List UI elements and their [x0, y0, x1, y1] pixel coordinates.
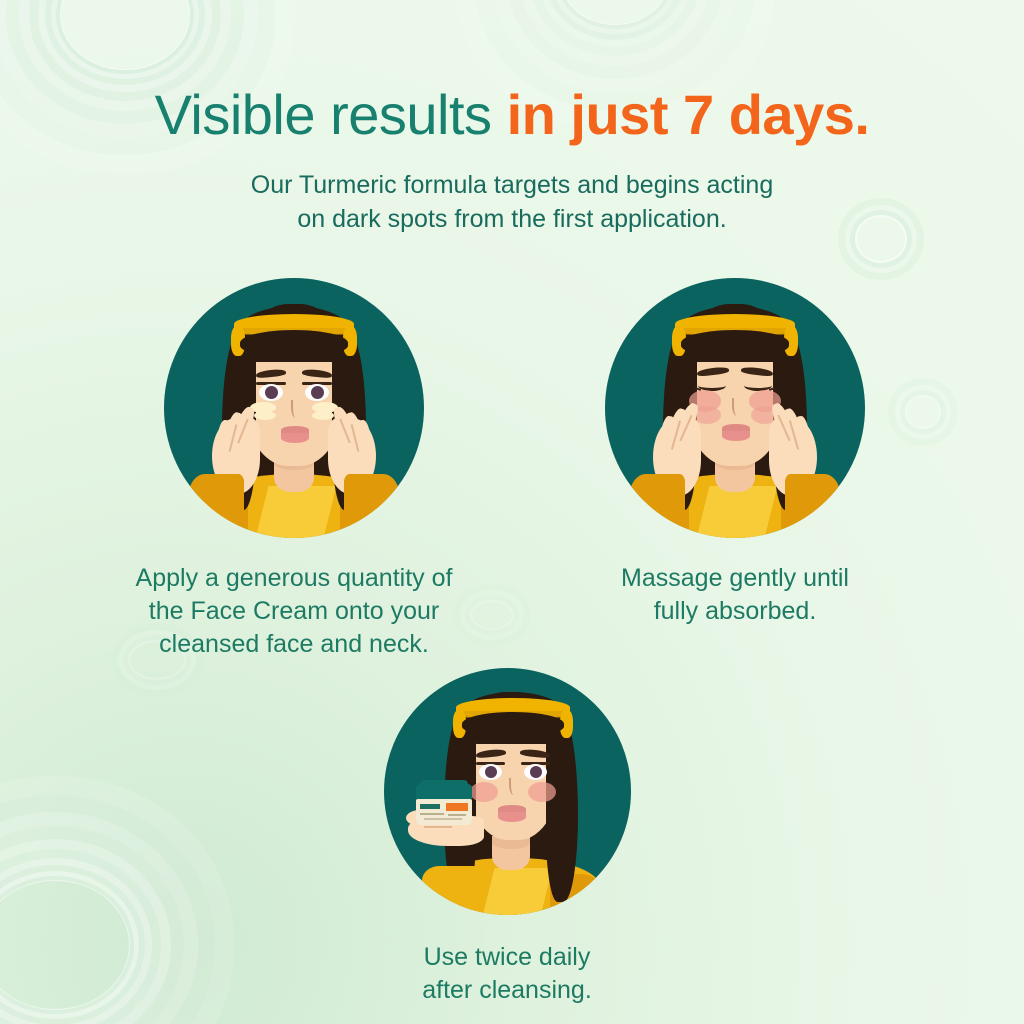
- page-subheadline: Our Turmeric formula targets and begins …: [0, 168, 1024, 236]
- subheadline-line-2: on dark spots from the first application…: [0, 202, 1024, 236]
- illustration-woman-holding-jar: [384, 668, 631, 915]
- step-2-caption-line-2: fully absorbed.: [525, 595, 945, 628]
- step-2-illustration-wrap: [525, 278, 945, 538]
- step-2-caption-line-1: Massage gently until: [525, 562, 945, 595]
- step-3-caption: Use twice daily after cleansing.: [297, 941, 717, 1007]
- step-3-caption-line-1: Use twice daily: [297, 941, 717, 974]
- page-headline: Visible results in just 7 days.: [0, 84, 1024, 146]
- illustration-woman-massaging-face: [605, 278, 865, 538]
- step-1-caption-line-3: cleansed face and neck.: [84, 628, 504, 661]
- step-2-caption: Massage gently until fully absorbed.: [525, 562, 945, 628]
- header: Visible results in just 7 days. Our Turm…: [0, 0, 1024, 236]
- step-1-caption-line-1: Apply a generous quantity of: [84, 562, 504, 595]
- step-3-illustration-wrap: [297, 668, 717, 915]
- step-1-caption-line-2: the Face Cream onto your: [84, 595, 504, 628]
- step-card-apply: Apply a generous quantity of the Face Cr…: [84, 278, 504, 661]
- headline-primary: Visible results: [155, 83, 507, 146]
- subheadline-line-1: Our Turmeric formula targets and begins …: [0, 168, 1024, 202]
- step-3-caption-line-2: after cleansing.: [297, 974, 717, 1007]
- step-card-massage: Massage gently until fully absorbed.: [525, 278, 945, 628]
- headline-accent: in just 7 days.: [507, 83, 870, 146]
- step-1-caption: Apply a generous quantity of the Face Cr…: [84, 562, 504, 661]
- illustration-woman-applying-cream: [164, 278, 424, 538]
- water-ripple-bottom-left: [0, 880, 130, 1010]
- step-card-use-twice-daily: Use twice daily after cleansing.: [297, 668, 717, 1007]
- step-1-illustration-wrap: [84, 278, 504, 538]
